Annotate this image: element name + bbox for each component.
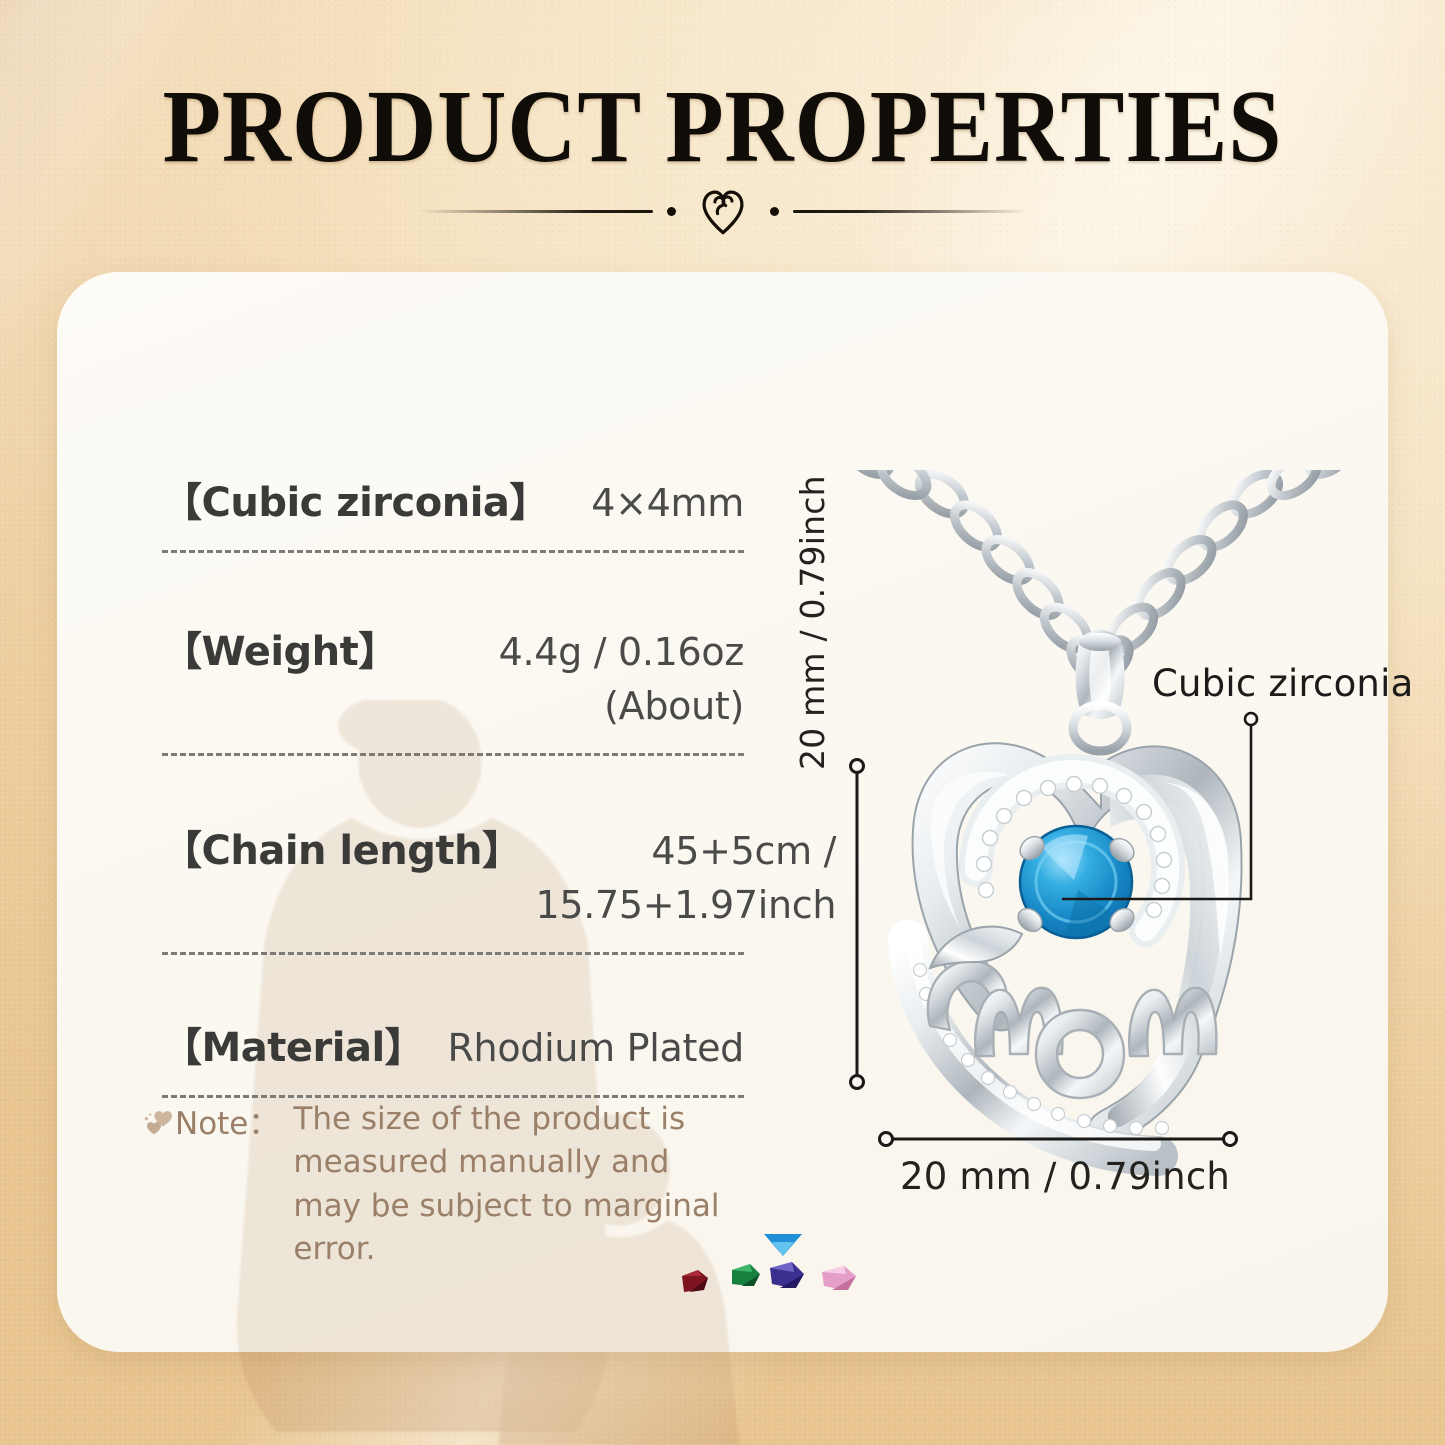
divider-dot-right [770,207,779,216]
title-divider [0,182,1445,240]
blue-cubic-zirconia-stone [1014,826,1139,938]
emerald-green-gem [732,1264,760,1286]
divider-rule-left [418,210,653,213]
note-label: Note： [175,1098,279,1143]
spec-separator [162,753,744,756]
spec-row-material: 【Material】 Rhodium Plated [162,1015,744,1098]
spec-value: 4.4g / 0.16oz (About) [412,626,744,734]
blue-topaz-gem [764,1234,802,1256]
hearts-icon [143,1108,177,1142]
spec-label: 【Chain length】 [162,818,521,876]
gemstone-color-options [660,1218,870,1310]
product-image [780,470,1420,1260]
cubic-zirconia-callout-label: Cubic zirconia [1152,662,1413,705]
page-title: PRODUCT PROPERTIES [58,72,1387,181]
spec-row-cubic-zirconia: 【Cubic zirconia】 4×4mm [162,470,744,553]
mom-heart-pendant [908,743,1242,1156]
divider-dot-left [667,207,676,216]
pendant-bail [1073,630,1127,751]
divider-rule-right [793,210,1028,213]
spec-separator [162,952,744,955]
spec-label: 【Weight】 [162,619,398,677]
swirl-heart-ornament-icon [696,184,750,238]
height-dimension-label: 20 mm / 0.79inch [793,460,832,770]
amethyst-purple-gem [770,1262,804,1288]
garnet-red-gem [682,1270,708,1292]
pink-sapphire-gem [822,1266,856,1290]
note-text: The size of the product is measured manu… [293,1098,723,1272]
spec-separator [162,550,744,553]
spec-label: 【Cubic zirconia】 [162,470,549,528]
width-dimension-label: 20 mm / 0.79inch [855,1155,1275,1198]
spec-value: Rhodium Plated [447,1022,744,1076]
spec-row-weight: 【Weight】 4.4g / 0.16oz (About) [162,619,744,756]
spec-value: 4×4mm [591,477,744,531]
note-block: Note： The size of the product is measure… [143,1098,743,1272]
spec-label: 【Material】 [162,1015,424,1073]
product-properties-infographic: PRODUCT PROPERTIES 【Cubic zirconia】 [0,0,1445,1445]
specification-list: 【Cubic zirconia】 4×4mm 【Weight】 4.4g / 0… [162,470,744,1098]
spec-row-chain-length: 【Chain length】 45+5cm / 15.75+1.97inch [162,818,744,955]
